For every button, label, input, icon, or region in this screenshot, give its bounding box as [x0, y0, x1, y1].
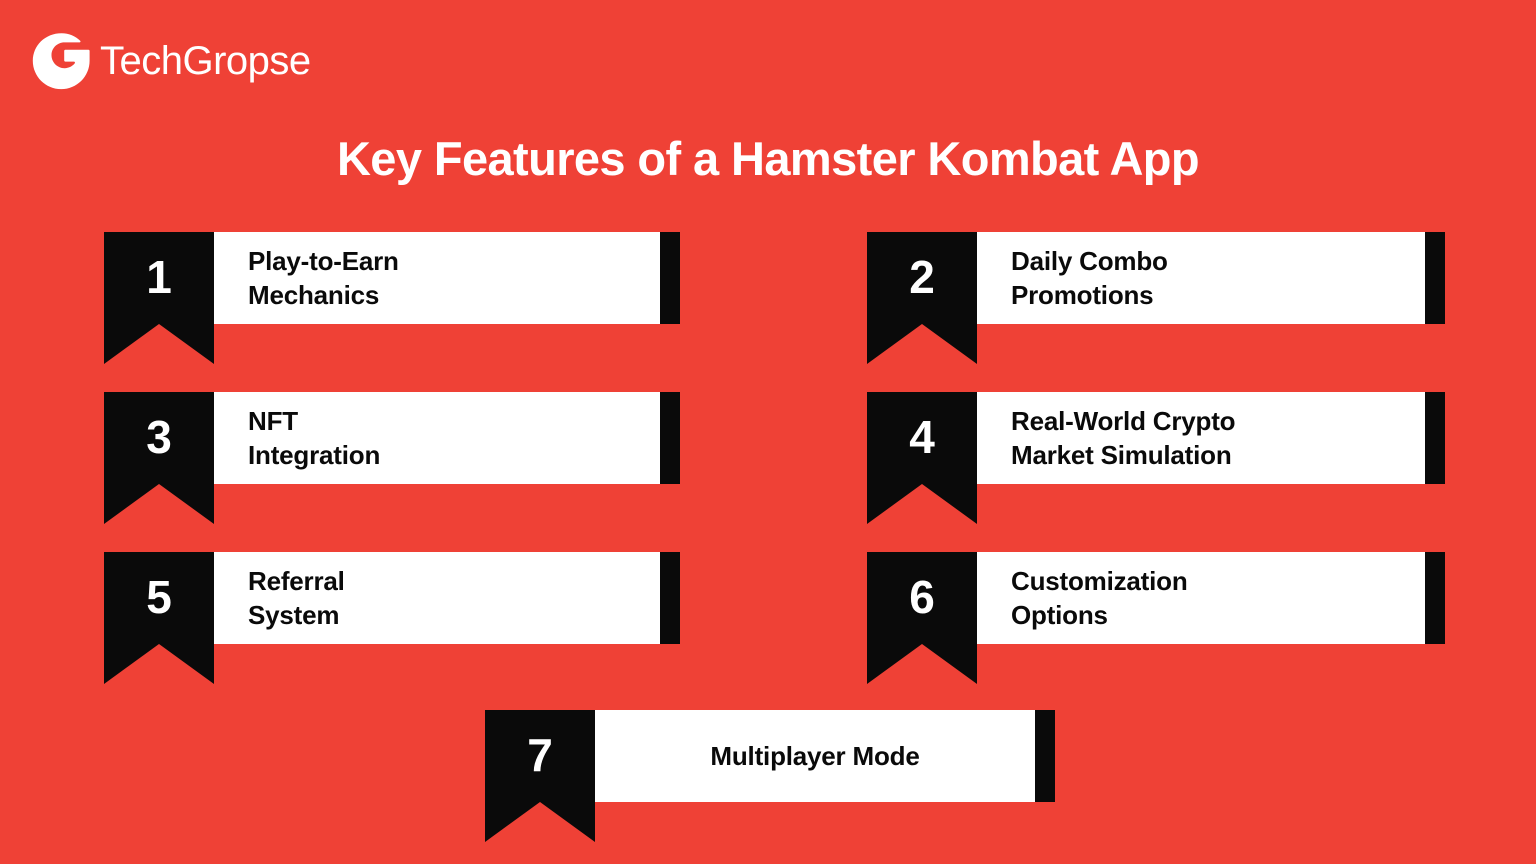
- feature-accent-bar-6: [1425, 552, 1445, 644]
- feature-accent-bar-3: [660, 392, 680, 484]
- feature-card-5[interactable]: 5 Referral System: [104, 552, 680, 644]
- feature-number-badge-5: 5: [104, 552, 214, 644]
- feature-card-grid: 1 Play-to-Earn Mechanics 2 Daily Combo P…: [0, 0, 1536, 864]
- feature-label-2: Daily Combo Promotions: [977, 232, 1425, 324]
- feature-card-6[interactable]: 6 Customization Options: [867, 552, 1445, 644]
- feature-card-2[interactable]: 2 Daily Combo Promotions: [867, 232, 1445, 324]
- feature-card-7[interactable]: 7 Multiplayer Mode: [485, 710, 1055, 802]
- feature-label-6: Customization Options: [977, 552, 1425, 644]
- feature-label-line-2: Integration: [248, 438, 642, 472]
- feature-label-line-1: Real-World Crypto: [1011, 404, 1407, 438]
- feature-accent-bar-4: [1425, 392, 1445, 484]
- feature-label-line-1: Referral: [248, 564, 642, 598]
- feature-label-line-2: Market Simulation: [1011, 438, 1407, 472]
- feature-label-line-1: Multiplayer Mode: [710, 739, 919, 773]
- feature-card-4[interactable]: 4 Real-World Crypto Market Simulation: [867, 392, 1445, 484]
- feature-label-line-1: NFT: [248, 404, 642, 438]
- feature-number-badge-6: 6: [867, 552, 977, 644]
- feature-number-badge-1: 1: [104, 232, 214, 324]
- feature-label-line-2: System: [248, 598, 642, 632]
- feature-label-1: Play-to-Earn Mechanics: [214, 232, 660, 324]
- feature-accent-bar-1: [660, 232, 680, 324]
- feature-label-5: Referral System: [214, 552, 660, 644]
- feature-number-badge-3: 3: [104, 392, 214, 484]
- feature-number-badge-2: 2: [867, 232, 977, 324]
- feature-number-badge-4: 4: [867, 392, 977, 484]
- feature-label-4: Real-World Crypto Market Simulation: [977, 392, 1425, 484]
- feature-card-3[interactable]: 3 NFT Integration: [104, 392, 680, 484]
- feature-label-7: Multiplayer Mode: [595, 710, 1035, 802]
- feature-accent-bar-2: [1425, 232, 1445, 324]
- feature-card-1[interactable]: 1 Play-to-Earn Mechanics: [104, 232, 680, 324]
- feature-accent-bar-7: [1035, 710, 1055, 802]
- feature-label-3: NFT Integration: [214, 392, 660, 484]
- feature-label-line-2: Options: [1011, 598, 1407, 632]
- feature-number-badge-7: 7: [485, 710, 595, 802]
- feature-label-line-2: Promotions: [1011, 278, 1407, 312]
- feature-label-line-1: Play-to-Earn: [248, 244, 642, 278]
- feature-label-line-1: Customization: [1011, 564, 1407, 598]
- feature-label-line-2: Mechanics: [248, 278, 642, 312]
- feature-accent-bar-5: [660, 552, 680, 644]
- feature-label-line-1: Daily Combo: [1011, 244, 1407, 278]
